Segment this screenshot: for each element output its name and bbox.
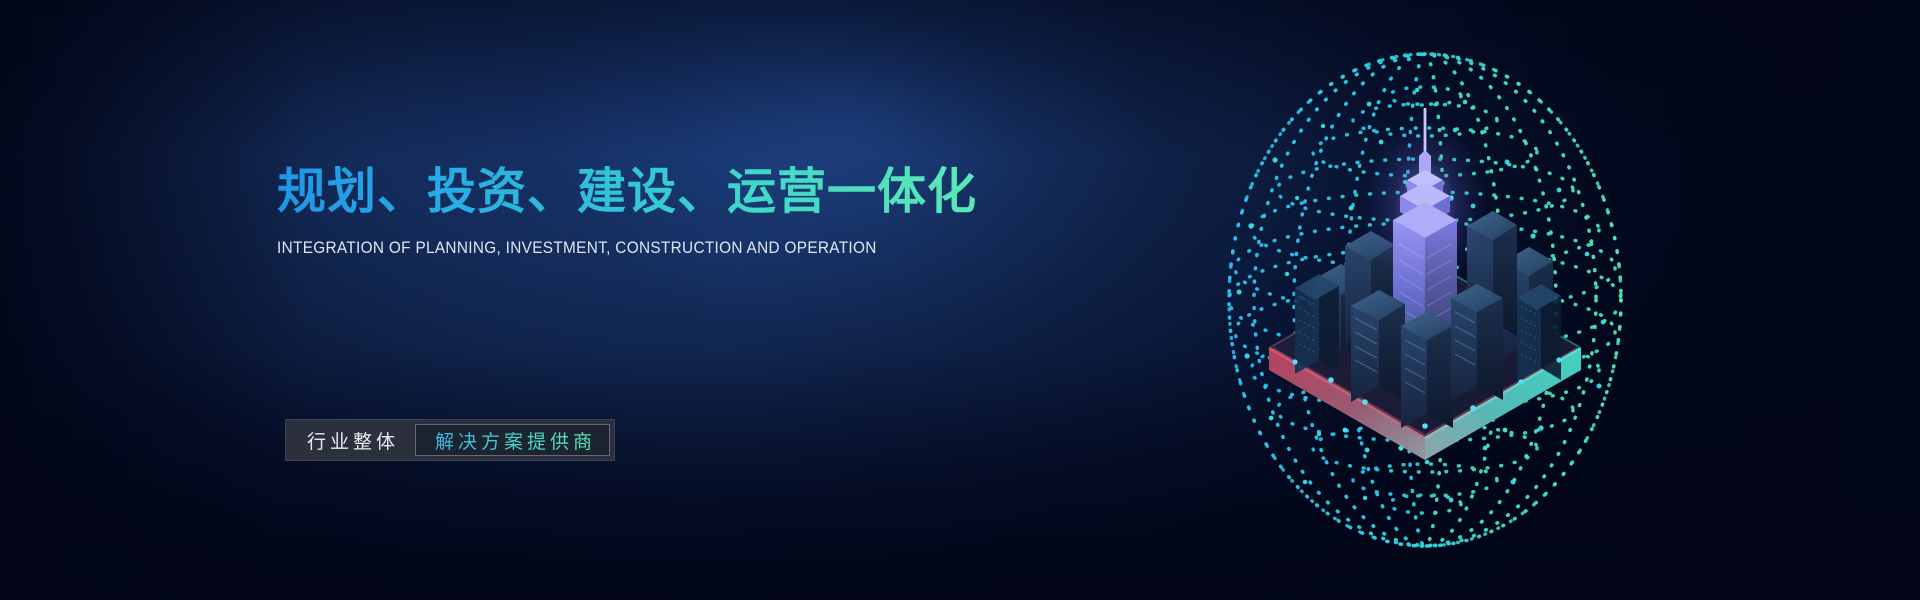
badge-secondary-box: 解决方案提供商 <box>415 424 610 456</box>
hero-copy: 规划、投资、建设、运营一体化 INTEGRATION OF PLANNING, … <box>277 166 1097 258</box>
page-title: 规划、投资、建设、运营一体化 <box>277 166 1097 220</box>
tagline-badge: 行业整体 解决方案提供商 <box>285 419 615 461</box>
isometric-smart-city-globe-icon <box>1155 30 1695 570</box>
hero-banner: 规划、投资、建设、运营一体化 INTEGRATION OF PLANNING, … <box>0 0 1920 600</box>
badge-primary-label: 行业整体 <box>286 420 415 460</box>
badge-secondary-label: 解决方案提供商 <box>431 427 596 454</box>
page-subtitle: INTEGRATION OF PLANNING, INVESTMENT, CON… <box>277 239 1040 258</box>
